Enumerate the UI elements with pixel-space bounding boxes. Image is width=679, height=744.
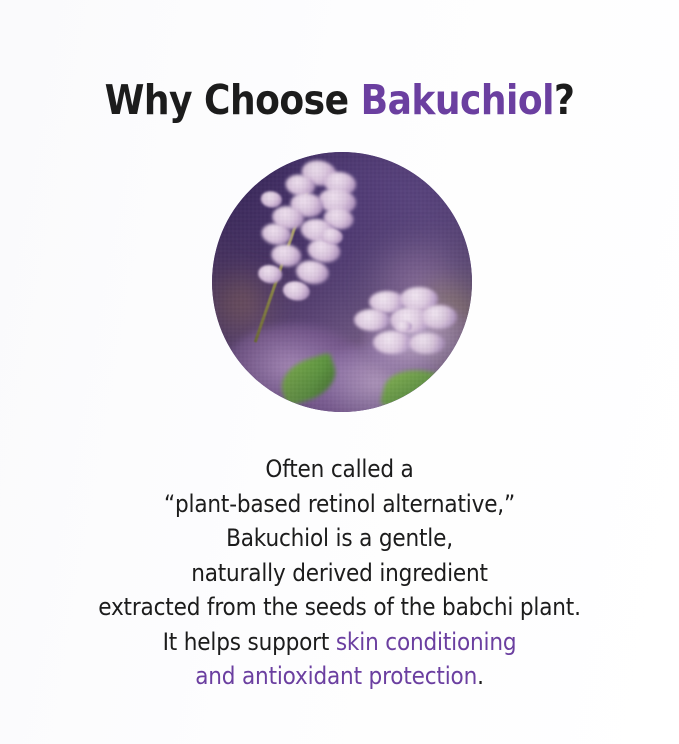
description-line-6: It helps support skin conditioning — [34, 625, 645, 660]
photo-floret — [395, 321, 412, 332]
description-line-7-period: . — [477, 662, 484, 690]
page-title-prefix: Why Choose — [105, 76, 361, 124]
description-text: Often called a “plant-based retinol alte… — [34, 452, 645, 694]
description-line-1-text: Often called a — [265, 455, 413, 483]
description-line-1: Often called a — [34, 452, 645, 487]
photo-floret — [281, 280, 311, 303]
description-line-2: “plant-based retinol alternative,” — [34, 487, 645, 522]
description-line-4-text: naturally derived ingredient — [191, 559, 488, 587]
description-line-3: Bakuchiol is a gentle, — [34, 521, 645, 556]
description-line-7: and antioxidant protection. — [34, 659, 645, 694]
page-title-suffix: ? — [554, 76, 574, 124]
promo-panel: Why Choose Bakuchiol? — [0, 0, 679, 744]
photo-floret — [373, 331, 411, 355]
description-line-7-accent: and antioxidant protection — [195, 662, 477, 690]
description-line-6-text: It helps support — [163, 628, 336, 656]
description-line-5: extracted from the seeds of the babchi p… — [34, 590, 645, 625]
photo-flower-cluster-secondary — [347, 287, 467, 386]
ingredient-photo-circle — [212, 152, 472, 412]
photo-floret — [421, 305, 457, 329]
description-line-6-accent: skin conditioning — [336, 628, 517, 656]
photo-floret — [409, 333, 445, 355]
description-line-3-text: Bakuchiol is a gentle, — [226, 524, 453, 552]
description-line-5-text: extracted from the seeds of the babchi p… — [98, 593, 581, 621]
ingredient-photo — [212, 152, 472, 412]
page-title: Why Choose Bakuchiol? — [41, 75, 639, 125]
photo-floret — [354, 309, 390, 331]
description-line-4: naturally derived ingredient — [34, 556, 645, 591]
description-line-2-text: “plant-based retinol alternative,” — [164, 490, 515, 518]
page-title-accent: Bakuchiol — [361, 76, 554, 124]
